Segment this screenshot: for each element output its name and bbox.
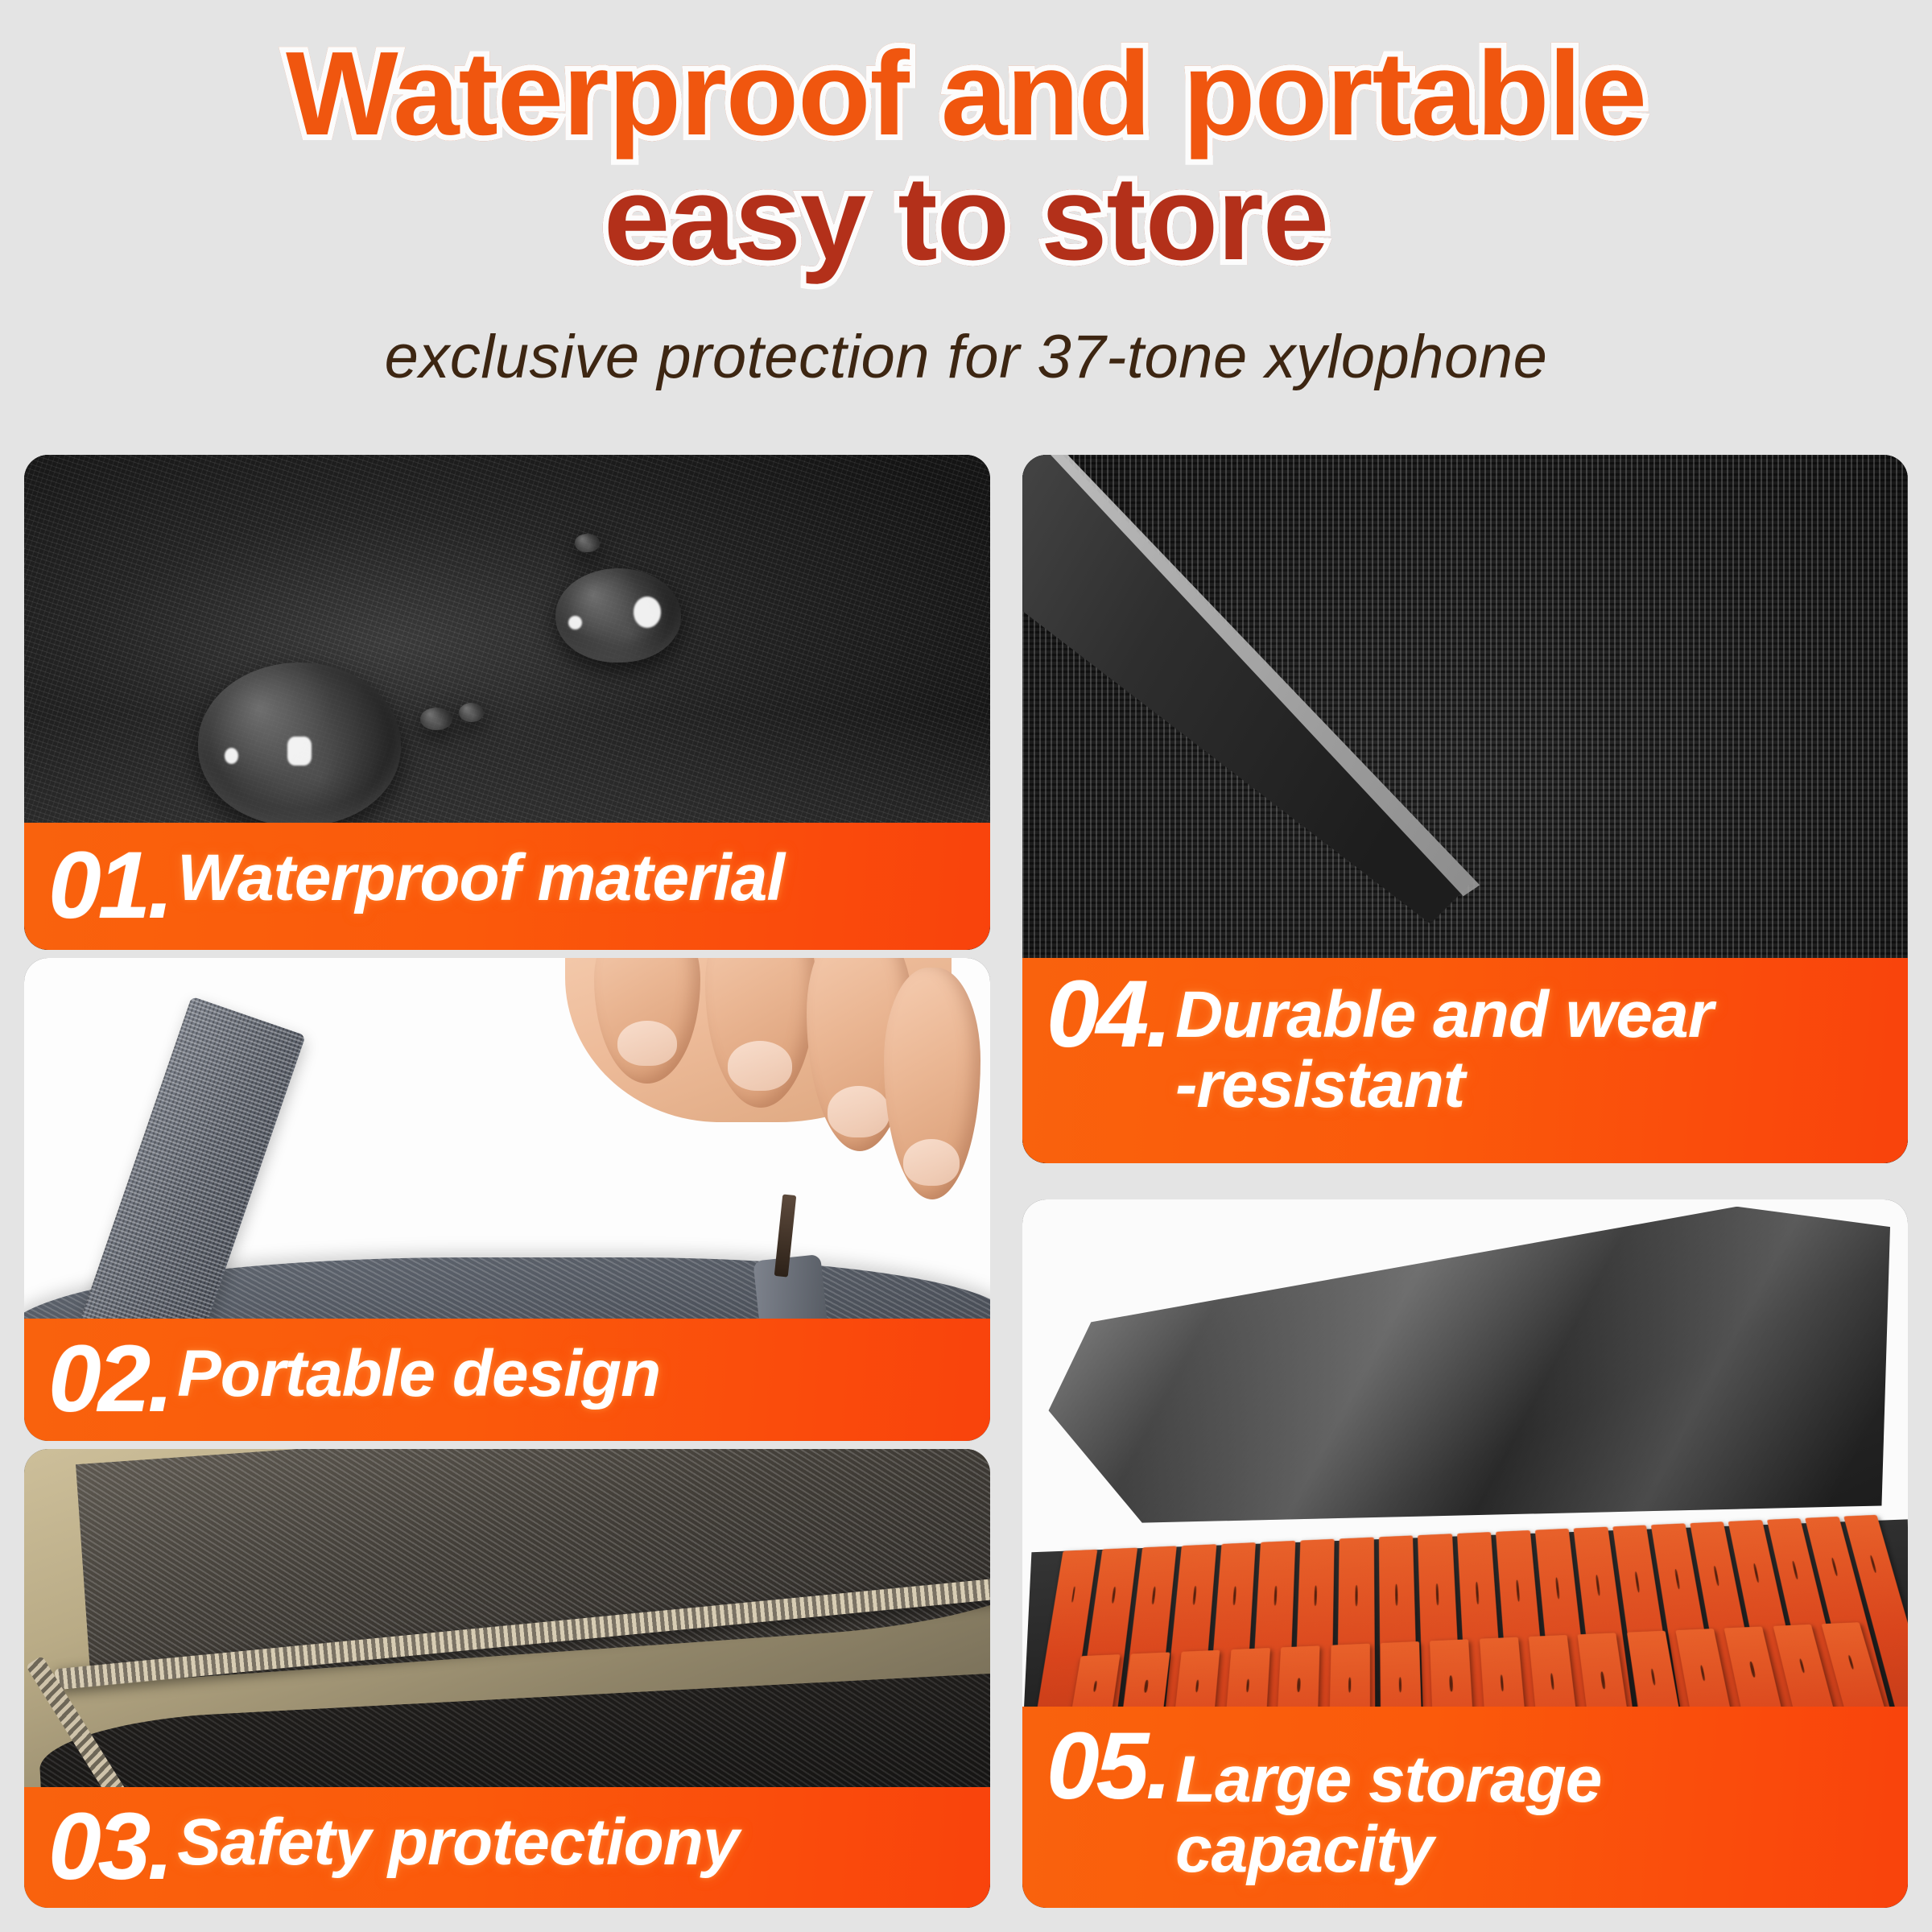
case-lid-sheen xyxy=(1040,1207,1890,1546)
feature-label-text-04-line2: -resistant xyxy=(1175,1051,1464,1119)
header: Waterproof and portable easy to store ex… xyxy=(0,0,1932,451)
feature-label-01: 01 . Waterproof material xyxy=(24,823,990,950)
feature-dot-05: . xyxy=(1146,1721,1172,1812)
water-droplet-icon xyxy=(555,568,681,663)
feature-label-text-03: Safety protectiony xyxy=(177,1808,738,1876)
feature-label-text-05-line1: Large storage xyxy=(1175,1745,1601,1814)
feature-card-02[interactable]: 02 . Portable design xyxy=(24,958,990,1441)
feature-label-03: 03 . Safety protectiony xyxy=(24,1787,990,1908)
feature-number-04: 04 xyxy=(1046,969,1146,1060)
page-subtitle: exclusive protection for 37-tone xylopho… xyxy=(0,322,1932,392)
feature-number-05: 05 xyxy=(1046,1721,1146,1812)
water-droplet-icon xyxy=(420,708,452,730)
feature-number-01: 01 xyxy=(48,840,147,931)
fabric-upper-layer xyxy=(76,1449,990,1684)
feature-dot-03: . xyxy=(147,1802,174,1893)
water-droplet-icon xyxy=(459,703,484,723)
feature-dot-04: . xyxy=(1146,969,1172,1060)
feature-card-01[interactable]: 01 . Waterproof material xyxy=(24,455,990,950)
infographic-page: Waterproof and portable easy to store ex… xyxy=(0,0,1932,1932)
feature-label-02: 02 . Portable design xyxy=(24,1319,990,1441)
feature-label-text-02: Portable design xyxy=(177,1340,660,1408)
feature-card-03[interactable]: 03 . Safety protectiony xyxy=(24,1449,990,1908)
feature-label-05: 05 . Large storage capacity xyxy=(1022,1707,1908,1908)
feature-card-04[interactable]: 04 . Durable and wear -resistant xyxy=(1022,455,1908,1163)
water-droplet-icon xyxy=(575,534,600,551)
feature-number-03: 03 xyxy=(48,1802,147,1893)
feature-label-04: 04 . Durable and wear -resistant xyxy=(1022,958,1908,1163)
water-droplet-icon xyxy=(198,663,401,826)
feature-number-02: 02 xyxy=(48,1334,147,1425)
feature-card-05[interactable]: 05 . Large storage capacity xyxy=(1022,1199,1908,1908)
feature-label-text-04-line1: Durable and wear xyxy=(1175,980,1713,1049)
feature-dot-01: . xyxy=(147,840,174,931)
feature-dot-02: . xyxy=(147,1334,174,1425)
feature-label-text-05-line2: capacity xyxy=(1175,1815,1433,1884)
page-title-line-2: easy to store xyxy=(0,159,1932,280)
feature-label-text-01: Waterproof material xyxy=(177,844,784,912)
page-title-line-1: Waterproof and portable xyxy=(0,34,1932,155)
hand-finger xyxy=(884,968,980,1199)
